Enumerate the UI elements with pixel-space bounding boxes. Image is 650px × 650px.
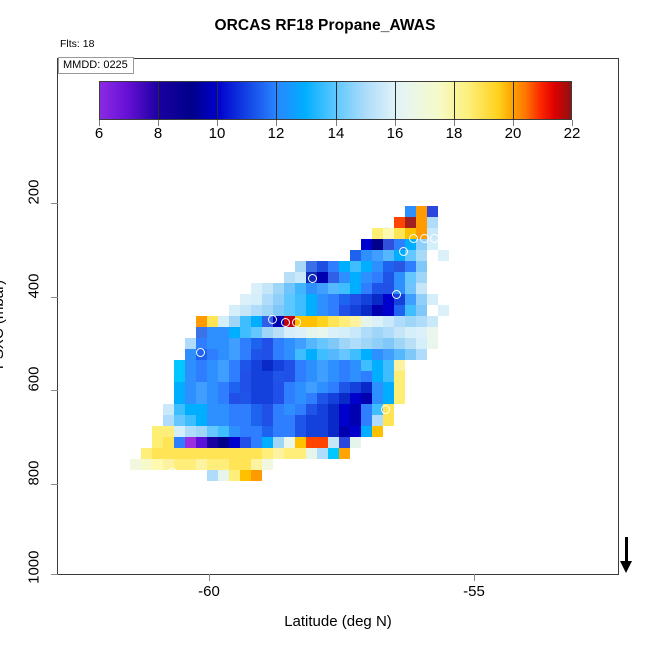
heatmap-cell	[328, 338, 339, 349]
colorbar-divider-3	[336, 81, 337, 120]
heatmap-cell	[372, 371, 383, 382]
heatmap-cell	[251, 393, 262, 404]
heatmap-cell	[372, 283, 383, 294]
down-arrow-marker	[620, 537, 633, 573]
heatmap-cell	[207, 338, 218, 349]
heatmap-cell	[218, 327, 229, 338]
heatmap-cell	[174, 415, 185, 426]
colorbar-divider-4	[395, 81, 396, 120]
heatmap-cell	[372, 250, 383, 261]
heatmap-cell	[174, 382, 185, 393]
heatmap-cell	[273, 437, 284, 448]
heatmap-cell	[262, 459, 273, 470]
heatmap-cell	[240, 404, 251, 415]
sample-marker	[202, 302, 211, 311]
heatmap-cell	[405, 217, 416, 228]
heatmap-cell	[438, 305, 449, 316]
heatmap-cell	[427, 327, 438, 338]
heatmap-cell	[328, 272, 339, 283]
heatmap-cell	[163, 437, 174, 448]
heatmap-cell	[339, 272, 350, 283]
heatmap-cell	[196, 426, 207, 437]
heatmap-cell	[306, 316, 317, 327]
heatmap-cell	[174, 371, 185, 382]
heatmap-cell	[306, 327, 317, 338]
heatmap-cell	[339, 305, 350, 316]
heatmap-cell	[317, 338, 328, 349]
page-title: ORCAS RF18 Propane_AWAS	[0, 17, 650, 35]
heatmap-cell	[317, 261, 328, 272]
sample-marker	[399, 247, 408, 256]
heatmap-cell	[284, 338, 295, 349]
heatmap-cell	[361, 360, 372, 371]
heatmap-cell	[163, 426, 174, 437]
heatmap-cell	[416, 217, 427, 228]
heatmap-cell	[306, 437, 317, 448]
heatmap-cell	[273, 349, 284, 360]
heatmap-cell	[383, 393, 394, 404]
heatmap-cell	[273, 415, 284, 426]
heatmap-cell	[405, 349, 416, 360]
heatmap-cell	[207, 382, 218, 393]
heatmap-cell	[383, 349, 394, 360]
heatmap-cell	[350, 305, 361, 316]
heatmap-cell	[284, 404, 295, 415]
heatmap-cell	[317, 272, 328, 283]
heatmap-cell	[339, 283, 350, 294]
y-tick-label-1000: 1000	[26, 551, 43, 595]
heatmap-cell	[284, 272, 295, 283]
heatmap-cell	[240, 294, 251, 305]
heatmap-cell	[405, 338, 416, 349]
heatmap-cell	[372, 294, 383, 305]
heatmap-cell	[229, 470, 240, 481]
y-tick-label-800: 800	[26, 461, 43, 505]
heatmap-cell	[152, 448, 163, 459]
heatmap-cell	[306, 349, 317, 360]
heatmap-cell	[306, 371, 317, 382]
heatmap-cell	[394, 272, 405, 283]
heatmap-cell	[383, 382, 394, 393]
heatmap-cell	[174, 393, 185, 404]
heatmap-cell	[394, 261, 405, 272]
heatmap-cell	[207, 470, 218, 481]
heatmap-cell	[207, 448, 218, 459]
heatmap-cell	[196, 360, 207, 371]
heatmap-cell	[295, 437, 306, 448]
x-axis-title: Latitude (deg N)	[57, 613, 619, 630]
y-tick-600	[51, 390, 58, 391]
heatmap-cell	[229, 459, 240, 470]
heatmap-cell	[328, 382, 339, 393]
sample-marker	[373, 554, 382, 563]
y-tick-800	[51, 484, 58, 485]
sample-marker	[198, 490, 207, 499]
heatmap-cell	[284, 305, 295, 316]
heatmap-cell	[185, 360, 196, 371]
heatmap-cell	[229, 382, 240, 393]
heatmap-cell	[350, 426, 361, 437]
colorbar-divider-5	[454, 81, 455, 120]
sample-marker	[381, 405, 390, 414]
heatmap-cell	[361, 415, 372, 426]
y-axis-title: PSXC (mbar)	[0, 280, 7, 369]
heatmap-cell	[207, 316, 218, 327]
heatmap-cell	[383, 305, 394, 316]
heatmap-cell	[262, 360, 273, 371]
heatmap-cell	[361, 316, 372, 327]
heatmap-cell	[262, 426, 273, 437]
heatmap-cell	[163, 448, 174, 459]
heatmap-cell	[317, 393, 328, 404]
heatmap-cell	[317, 305, 328, 316]
heatmap-cell	[394, 360, 405, 371]
heatmap-cell	[207, 459, 218, 470]
heatmap-cell	[350, 327, 361, 338]
heatmap-cell	[361, 261, 372, 272]
heatmap-cell	[383, 250, 394, 261]
heatmap-cell	[251, 437, 262, 448]
heatmap-cell	[229, 437, 240, 448]
sample-marker	[393, 494, 402, 503]
heatmap-cell	[350, 294, 361, 305]
heatmap-cell	[229, 371, 240, 382]
heatmap-cell	[339, 349, 350, 360]
y-tick-label-400: 400	[26, 274, 43, 318]
heatmap-cell	[339, 338, 350, 349]
heatmap-cell	[218, 415, 229, 426]
heatmap-cell	[240, 360, 251, 371]
heatmap-cell	[339, 371, 350, 382]
heatmap-cell	[163, 404, 174, 415]
colorbar-tick-label-18: 18	[446, 125, 463, 142]
heatmap-cell	[317, 448, 328, 459]
heatmap-cell	[416, 283, 427, 294]
heatmap-cell	[306, 393, 317, 404]
heatmap-cell	[262, 294, 273, 305]
heatmap-cell	[251, 283, 262, 294]
heatmap-cell	[361, 327, 372, 338]
colorbar-tick-label-14: 14	[328, 125, 345, 142]
heatmap-cell	[350, 316, 361, 327]
heatmap-cell	[240, 415, 251, 426]
heatmap-cell	[262, 283, 273, 294]
heatmap-cell	[328, 371, 339, 382]
heatmap-cell	[273, 382, 284, 393]
sample-marker	[292, 318, 301, 327]
heatmap-cell	[427, 206, 438, 217]
heatmap-cell	[339, 316, 350, 327]
heatmap-cell	[383, 261, 394, 272]
heatmap-cell	[251, 338, 262, 349]
heatmap-cell	[317, 404, 328, 415]
y-tick-400	[51, 297, 58, 298]
heatmap-cell	[317, 349, 328, 360]
heatmap-cell	[339, 404, 350, 415]
heatmap-cell	[361, 294, 372, 305]
heatmap-cell	[394, 327, 405, 338]
heatmap-cell	[207, 349, 218, 360]
heatmap-cell	[284, 327, 295, 338]
heatmap-cell	[372, 382, 383, 393]
heatmap-cell	[284, 382, 295, 393]
heatmap-cell	[361, 382, 372, 393]
heatmap-cell	[306, 294, 317, 305]
heatmap-cell	[229, 448, 240, 459]
heatmap-cell	[262, 327, 273, 338]
heatmap-cell	[350, 272, 361, 283]
heatmap-cell	[394, 349, 405, 360]
heatmap-cell	[383, 327, 394, 338]
heatmap-cell	[262, 393, 273, 404]
heatmap-cell	[185, 349, 196, 360]
heatmap-cell	[218, 448, 229, 459]
heatmap-cell	[372, 327, 383, 338]
heatmap-cell	[339, 327, 350, 338]
heatmap-cell	[372, 272, 383, 283]
heatmap-cell	[383, 360, 394, 371]
heatmap-cell	[251, 316, 262, 327]
heatmap-cell	[328, 316, 339, 327]
heatmap-cell	[185, 382, 196, 393]
heatmap-cell	[218, 404, 229, 415]
heatmap-cell	[207, 393, 218, 404]
heatmap-cell	[328, 305, 339, 316]
heatmap-cell	[350, 338, 361, 349]
heatmap-cell	[240, 382, 251, 393]
heatmap-cell	[240, 305, 251, 316]
colorbar-tick-label-6: 6	[95, 125, 103, 142]
heatmap-cell	[251, 426, 262, 437]
sample-marker	[246, 493, 255, 502]
heatmap-cell	[405, 261, 416, 272]
heatmap-cell	[240, 459, 251, 470]
y-tick-200	[51, 203, 58, 204]
heatmap-cell	[284, 448, 295, 459]
colorbar-divider-2	[276, 81, 277, 120]
heatmap-cell	[207, 371, 218, 382]
heatmap-cell	[273, 404, 284, 415]
heatmap-cell	[427, 217, 438, 228]
sample-marker	[430, 234, 439, 243]
heatmap-cell	[383, 415, 394, 426]
heatmap-cell	[196, 415, 207, 426]
heatmap-cell	[372, 228, 383, 239]
heatmap-cell	[295, 426, 306, 437]
heatmap-cell	[229, 360, 240, 371]
heatmap-cell	[361, 349, 372, 360]
heatmap-cell	[361, 426, 372, 437]
heatmap-cell	[196, 316, 207, 327]
heatmap-cell	[427, 294, 438, 305]
x-tick--55	[474, 574, 475, 581]
heatmap-cell	[295, 448, 306, 459]
heatmap-cell	[262, 415, 273, 426]
heatmap-cell	[317, 382, 328, 393]
heatmap-cell	[262, 404, 273, 415]
heatmap-cell	[383, 239, 394, 250]
heatmap-cell	[196, 437, 207, 448]
heatmap-cell	[185, 393, 196, 404]
heatmap-cell	[251, 448, 262, 459]
heatmap-cell	[416, 261, 427, 272]
heatmap-cell	[405, 327, 416, 338]
heatmap-cell	[306, 382, 317, 393]
heatmap-cell	[438, 250, 449, 261]
heatmap-cell	[262, 448, 273, 459]
heatmap-cell	[284, 294, 295, 305]
heatmap-cell	[295, 404, 306, 415]
heatmap-cell	[273, 360, 284, 371]
heatmap-cell	[295, 382, 306, 393]
heatmap-cell	[328, 393, 339, 404]
heatmap-cell	[295, 338, 306, 349]
heatmap-cell	[339, 437, 350, 448]
heatmap-cell	[394, 393, 405, 404]
heatmap-cell	[152, 459, 163, 470]
heatmap-cell	[350, 261, 361, 272]
heatmap-cell	[350, 404, 361, 415]
heatmap-cell	[207, 327, 218, 338]
heatmap-cell	[262, 382, 273, 393]
heatmap-cell	[317, 360, 328, 371]
heatmap-cell	[229, 349, 240, 360]
heatmap-cell	[262, 338, 273, 349]
heatmap-cell	[185, 404, 196, 415]
heatmap-cell	[196, 393, 207, 404]
heatmap-cell	[273, 327, 284, 338]
heatmap-cell	[328, 426, 339, 437]
heatmap-cell	[372, 261, 383, 272]
heatmap-cell	[339, 261, 350, 272]
heatmap-cell	[372, 316, 383, 327]
heatmap-cell	[185, 338, 196, 349]
heatmap-cell	[339, 415, 350, 426]
heatmap-cell	[383, 371, 394, 382]
heatmap-cell	[141, 448, 152, 459]
heatmap-cell	[284, 415, 295, 426]
heatmap-cell	[218, 470, 229, 481]
heatmap-cell	[196, 327, 207, 338]
heatmap-cell	[185, 459, 196, 470]
sample-marker	[340, 515, 349, 524]
heatmap-cell	[295, 349, 306, 360]
sample-marker	[359, 542, 368, 551]
heatmap-cell	[317, 426, 328, 437]
heatmap-cell	[251, 327, 262, 338]
colorbar-tick-label-12: 12	[268, 125, 285, 142]
sample-marker	[440, 234, 449, 243]
heatmap-cell	[196, 459, 207, 470]
heatmap-cell	[262, 437, 273, 448]
heatmap-cell	[306, 426, 317, 437]
sample-marker	[383, 494, 392, 503]
heatmap-cell	[240, 393, 251, 404]
y-tick-1000	[51, 574, 58, 575]
heatmap-cell	[251, 404, 262, 415]
colorbar-tick-label-8: 8	[154, 125, 162, 142]
heatmap-cell	[141, 459, 152, 470]
heatmap-cell	[372, 393, 383, 404]
heatmap-cell	[251, 349, 262, 360]
heatmap-cell	[361, 305, 372, 316]
heatmap-cell	[350, 283, 361, 294]
heatmap-cell	[295, 272, 306, 283]
heatmap-cell	[284, 283, 295, 294]
heatmap-cell	[350, 382, 361, 393]
heatmap-cell	[383, 316, 394, 327]
heatmap-cell	[350, 250, 361, 261]
heatmap-cell	[295, 360, 306, 371]
heatmap-cell	[218, 338, 229, 349]
colorbar-divider-6	[513, 81, 514, 120]
heatmap-cell	[328, 261, 339, 272]
heatmap-cell	[372, 360, 383, 371]
heatmap-cell	[328, 404, 339, 415]
heatmap-cell	[273, 305, 284, 316]
heatmap-cell	[416, 316, 427, 327]
x-tick-label--55: -55	[463, 583, 485, 600]
heatmap-cell	[152, 437, 163, 448]
heatmap-cell	[405, 305, 416, 316]
heatmap-cell	[405, 206, 416, 217]
heatmap-cell	[130, 459, 141, 470]
y-tick-label-600: 600	[26, 367, 43, 411]
heatmap-cell	[361, 272, 372, 283]
sample-marker	[223, 493, 232, 502]
heatmap-cell	[251, 305, 262, 316]
heatmap-cell	[306, 415, 317, 426]
heatmap-cell	[394, 338, 405, 349]
heatmap-cell	[350, 360, 361, 371]
heatmap-cell	[229, 393, 240, 404]
heatmap-cell	[273, 448, 284, 459]
heatmap-cell	[306, 448, 317, 459]
colorbar-tick-label-20: 20	[505, 125, 522, 142]
sample-marker	[196, 348, 205, 357]
heatmap-cell	[218, 382, 229, 393]
sample-marker	[168, 468, 177, 477]
heatmap-cell	[262, 349, 273, 360]
heatmap-cell	[218, 426, 229, 437]
heatmap-cell	[284, 426, 295, 437]
sample-marker	[409, 234, 418, 243]
heatmap-cell	[196, 448, 207, 459]
x-tick-label--60: -60	[198, 583, 220, 600]
heatmap-cell	[416, 272, 427, 283]
heatmap-cell	[240, 448, 251, 459]
heatmap-cell	[372, 415, 383, 426]
heatmap-cell	[416, 305, 427, 316]
heatmap-cell	[284, 360, 295, 371]
heatmap-cell	[361, 371, 372, 382]
heatmap-cell	[295, 371, 306, 382]
heatmap-cell	[185, 415, 196, 426]
heatmap-cell	[405, 294, 416, 305]
heatmap-cell	[405, 272, 416, 283]
heatmap-cell	[284, 371, 295, 382]
heatmap-cell	[427, 338, 438, 349]
heatmap-cell	[416, 294, 427, 305]
heatmap-cell	[185, 426, 196, 437]
heatmap-cell	[317, 294, 328, 305]
heatmap-cell	[361, 338, 372, 349]
heatmap-cell	[262, 371, 273, 382]
arrow-shaft	[625, 537, 628, 563]
heatmap-cell	[240, 470, 251, 481]
sample-marker	[378, 486, 387, 495]
heatmap-cell	[372, 338, 383, 349]
